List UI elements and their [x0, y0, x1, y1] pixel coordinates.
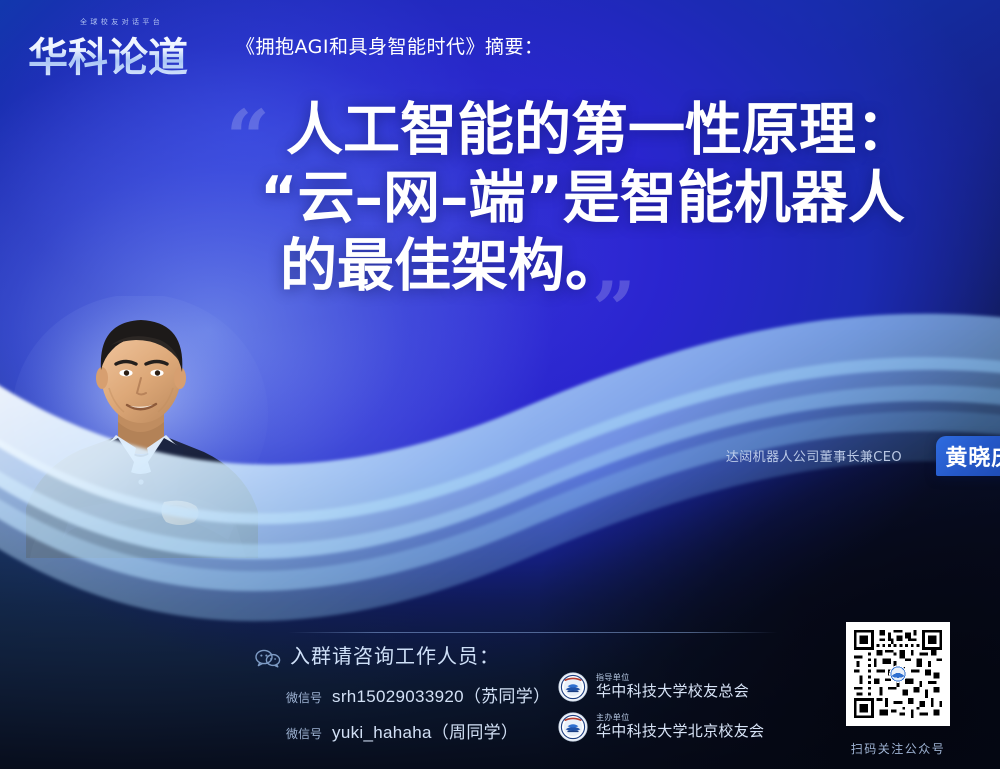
- contact-label: 微信号: [286, 725, 322, 742]
- wechat-icon: [255, 648, 281, 668]
- quote-open-mark: “: [226, 100, 270, 176]
- contact-row: 微信号 yuki_hahaha（周同学）: [286, 718, 518, 743]
- footer-divider: [288, 632, 778, 633]
- contact-value: yuki_hahaha（周同学）: [332, 718, 518, 743]
- qr-block: 扫码关注公众号: [838, 622, 958, 757]
- page-title: 《拥抱AGI和具身智能时代》摘要：: [236, 32, 544, 61]
- quote-line-1: 人工智能的第一性原理：: [286, 96, 958, 164]
- organization-row: 指导单位 华中科技大学校友总会: [558, 672, 749, 702]
- qr-caption: 扫码关注公众号: [838, 740, 958, 757]
- organization-text: 指导单位 华中科技大学校友总会: [596, 674, 749, 699]
- footer-section: 入群请咨询工作人员： 微信号 srh15029033920（苏同学） 微信号 y…: [0, 640, 1000, 769]
- speaker-role: 达闼机器人公司董事长兼CEO: [726, 446, 902, 465]
- contact-label: 微信号: [286, 689, 322, 706]
- contact-value: srh15029033920（苏同学）: [332, 682, 550, 707]
- speaker-name-badge: 黄晓庆: [936, 436, 1000, 476]
- organization-row: 主办单位 华中科技大学北京校友会: [558, 712, 764, 742]
- quote-block: “ 人工智能的第一性原理： “云–网–端”是智能机器人 的最佳架构。 ”: [238, 96, 958, 300]
- university-emblem-icon: [558, 672, 588, 702]
- contact-row: 微信号 srh15029033920（苏同学）: [286, 682, 550, 707]
- quote-line-2: “云–网–端”是智能机器人: [260, 164, 958, 232]
- brand-logo: 全球校友对话平台 华科论道: [28, 15, 216, 77]
- organization-name: 华中科技大学校友总会: [596, 684, 749, 700]
- logo-wordmark: 华科论道: [28, 25, 188, 83]
- university-emblem-icon: [558, 712, 588, 742]
- organization-name: 华中科技大学北京校友会: [596, 724, 764, 740]
- quote-close-mark: ”: [592, 272, 636, 348]
- join-instruction: 入群请咨询工作人员：: [290, 640, 500, 669]
- speaker-portrait: [14, 296, 276, 558]
- speaker-credit: 达闼机器人公司董事长兼CEO 黄晓庆: [726, 446, 902, 465]
- organization-text: 主办单位 华中科技大学北京校友会: [596, 714, 764, 739]
- qr-code-image[interactable]: [846, 622, 950, 726]
- header-bar: 全球校友对话平台 华科论道 《拥抱AGI和具身智能时代》摘要：: [0, 0, 1000, 92]
- poster-canvas: 全球校友对话平台 华科论道 《拥抱AGI和具身智能时代》摘要： “ 人工智能的第…: [0, 0, 1000, 769]
